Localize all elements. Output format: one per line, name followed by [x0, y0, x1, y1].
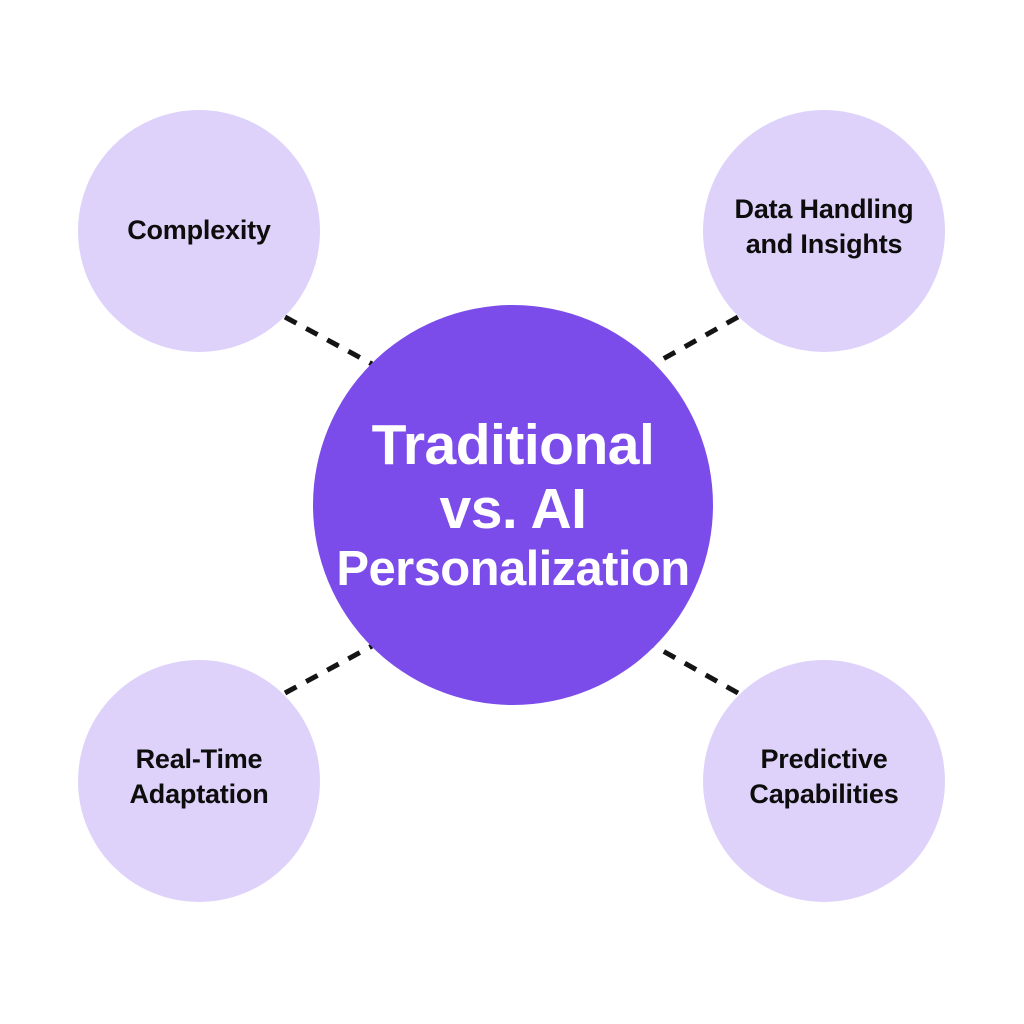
- diagram-canvas: Complexity Data Handling and Insights Re…: [0, 0, 1024, 1024]
- node-data-handling-and-insights-label: Data Handling and Insights: [725, 192, 924, 262]
- node-predictive-capabilities[interactable]: Predictive Capabilities: [703, 660, 945, 902]
- node-real-time-adaptation[interactable]: Real-Time Adaptation: [78, 660, 320, 902]
- node-real-time-adaptation-label: Real-Time Adaptation: [120, 742, 279, 812]
- node-center-label: Traditional vs. AI Personalization: [328, 413, 697, 597]
- node-complexity-label: Complexity: [117, 213, 281, 248]
- node-center-hub[interactable]: Traditional vs. AI Personalization: [313, 305, 713, 705]
- center-label-line-3: Personalization: [336, 542, 689, 597]
- center-label-line-1: Traditional: [336, 413, 689, 477]
- connector-data-handling-and-insights: [654, 317, 738, 364]
- node-complexity[interactable]: Complexity: [78, 110, 320, 352]
- connector-complexity: [285, 317, 372, 364]
- node-data-handling-and-insights[interactable]: Data Handling and Insights: [703, 110, 945, 352]
- connector-predictive-capabilities: [654, 646, 738, 693]
- center-label-line-2: vs. AI: [336, 477, 689, 541]
- node-predictive-capabilities-label: Predictive Capabilities: [739, 742, 908, 812]
- connector-real-time-adaptation: [285, 646, 372, 693]
